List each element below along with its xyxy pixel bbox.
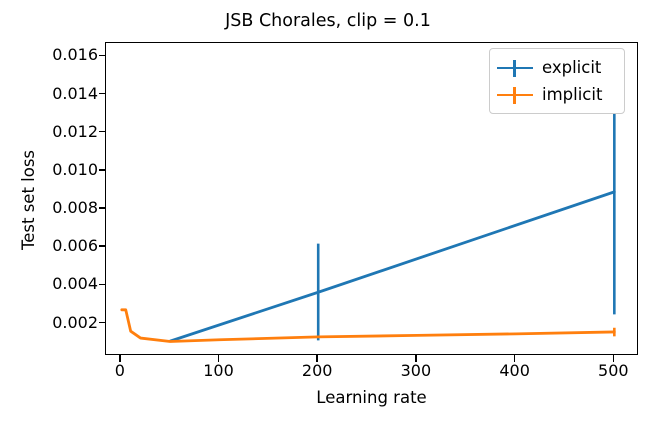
legend-entry-explicit: explicit [496,54,618,81]
x-tick-label: 500 [573,362,653,380]
x-tick-mark [316,355,318,362]
legend-vline [513,87,516,104]
x-tick-mark [415,355,417,362]
legend-entry-implicit: implicit [496,81,618,108]
x-tick-mark [218,355,220,362]
y-tick-mark [99,245,106,247]
y-tick-mark [99,55,106,57]
x-tick-label: 0 [80,362,160,380]
y-tick-mark [99,169,106,171]
x-tick-mark [514,355,516,362]
x-axis-label: Learning rate [105,388,638,408]
x-tick-label: 400 [475,362,555,380]
errorbar-marker-icon [496,56,534,80]
y-tick-mark [99,131,106,133]
legend-vline [513,60,516,77]
legend-label-implicit: implicit [534,86,602,104]
errorbar-marker-icon [496,83,534,107]
chart-legend: explicit implicit [489,48,625,114]
x-tick-label: 100 [179,362,259,380]
y-axis-label: Test set loss [19,110,39,290]
y-tick-mark [99,93,106,95]
x-tick-label: 200 [277,362,357,380]
x-tick-label: 300 [376,362,456,380]
y-tick-mark [99,207,106,209]
legend-label-explicit: explicit [534,59,601,77]
x-tick-mark [613,355,615,362]
y-tick-mark [99,284,106,286]
chart-figure: JSB Chorales, clip = 0.1 0.0020.0040.006… [0,0,656,423]
x-tick-mark [119,355,121,362]
y-tick-mark [99,322,106,324]
